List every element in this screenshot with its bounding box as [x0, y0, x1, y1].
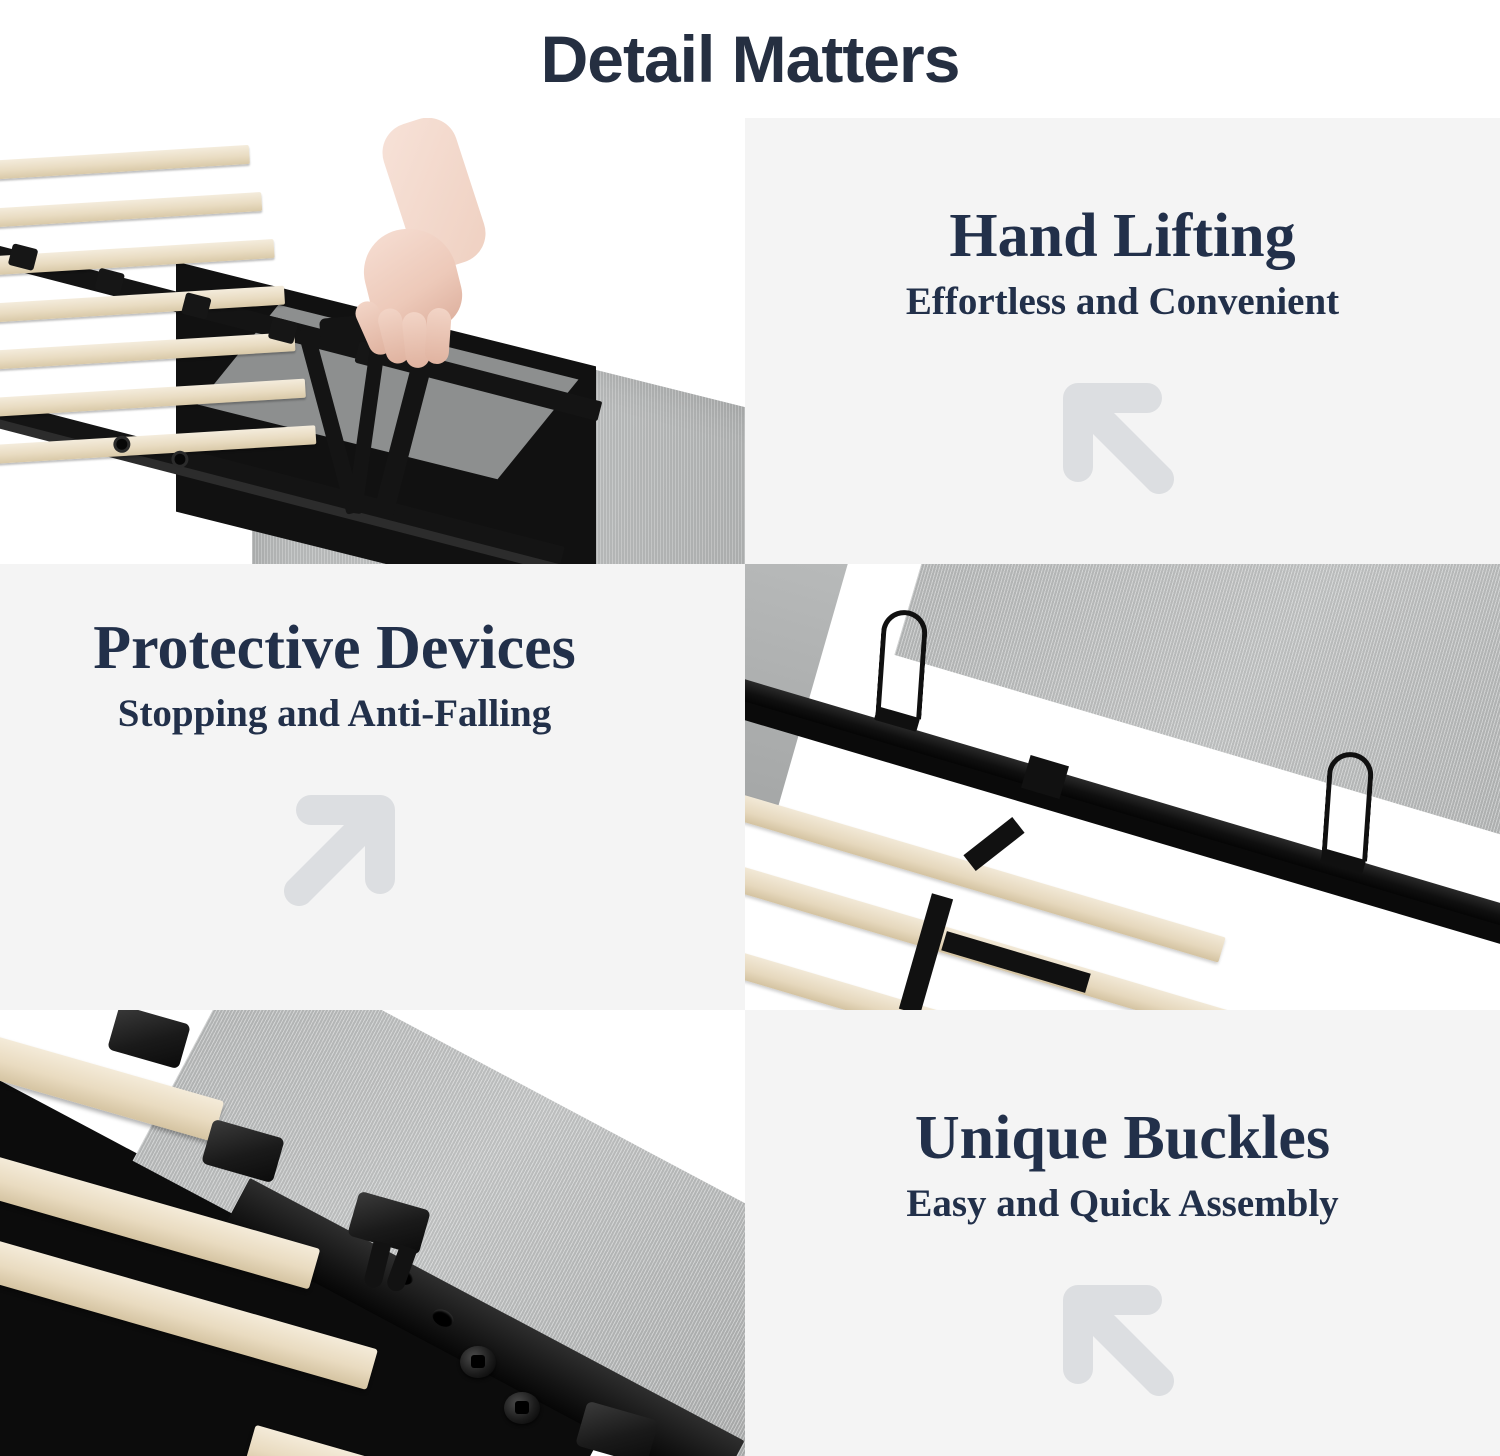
feature-title: Hand Lifting — [949, 204, 1295, 269]
panel-protective-devices-photo — [745, 564, 1500, 1010]
feature-subtitle: Effortless and Convenient — [906, 281, 1339, 324]
safety-hook — [1321, 751, 1374, 862]
feature-title: Protective Devices — [93, 616, 576, 681]
arrow-up-right-icon — [260, 768, 410, 918]
feature-title: Unique Buckles — [915, 1106, 1330, 1171]
feature-subtitle: Easy and Quick Assembly — [906, 1183, 1338, 1226]
wood-slat — [0, 145, 250, 198]
feature-grid: Hand Lifting Effortless and Convenient P… — [0, 118, 1500, 1456]
panel-protective-devices-text: Protective Devices Stopping and Anti-Fal… — [0, 564, 745, 1010]
panel-unique-buckles-photo — [0, 1010, 745, 1456]
arrow-up-left-icon — [1048, 356, 1198, 506]
wood-slat — [0, 192, 262, 246]
panel-hand-lifting-photo — [0, 118, 745, 564]
page-header: Detail Matters — [0, 0, 1500, 118]
feature-subtitle: Stopping and Anti-Falling — [118, 693, 552, 736]
cross-bracket — [963, 817, 1024, 871]
wood-slat — [0, 332, 295, 388]
safety-hook — [875, 609, 928, 720]
panel-unique-buckles-text: Unique Buckles Easy and Quick Assembly — [745, 1010, 1500, 1456]
hand — [352, 228, 482, 368]
page-title: Detail Matters — [541, 26, 960, 92]
rail-bolt — [460, 1346, 496, 1378]
rail-bolt — [504, 1392, 540, 1424]
slat-buckle-cap — [107, 1010, 191, 1069]
infographic-page: Detail Matters — [0, 0, 1500, 1456]
arrow-up-left-icon — [1048, 1258, 1198, 1408]
finger — [424, 307, 452, 365]
panel-hand-lifting-text: Hand Lifting Effortless and Convenient — [745, 118, 1500, 564]
